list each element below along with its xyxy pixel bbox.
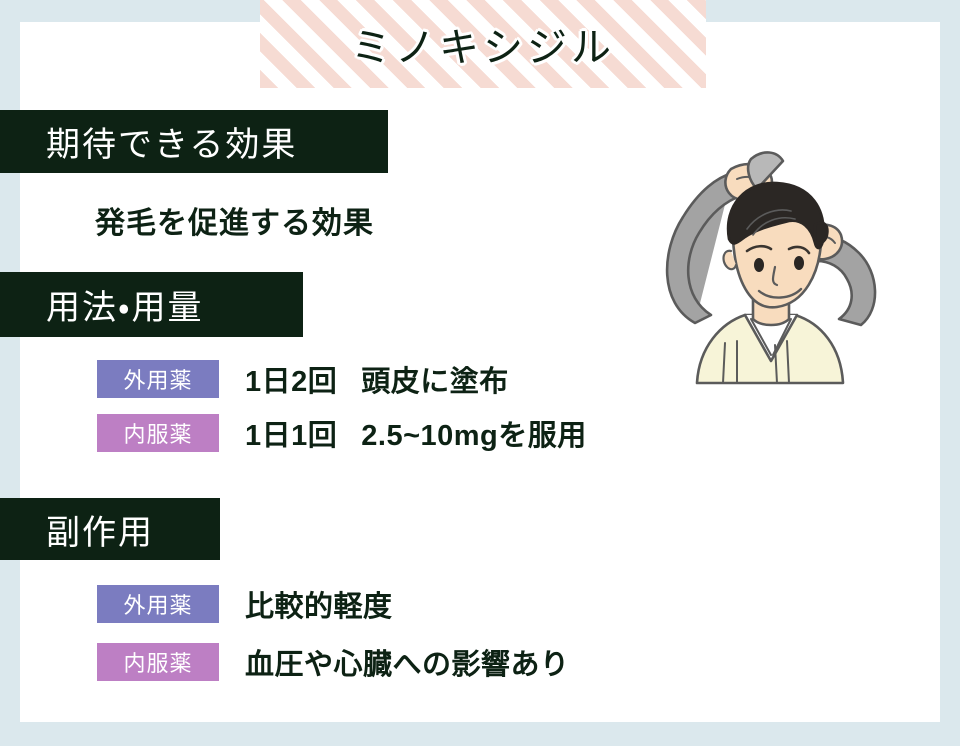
section-heading-dosage: 用法・用量 <box>0 272 303 337</box>
title-banner: ミノキシジル <box>260 0 706 88</box>
side-effect-topical-text: 比較的軽度 <box>245 583 393 625</box>
dosage-oral-text: 1日1回2.5~10mgを服用 <box>245 412 587 454</box>
dosage-row-topical: 外用薬 1日2回頭皮に塗布 <box>97 358 509 400</box>
badge-topical: 外用薬 <box>97 585 219 623</box>
badge-oral: 内服薬 <box>97 643 219 681</box>
section-heading-label: 用法・用量 <box>46 280 204 329</box>
illustration-man-applying-scalp-treatment <box>625 133 915 423</box>
section-heading-expected-effect: 期待できる効果 <box>0 110 388 173</box>
badge-oral: 内服薬 <box>97 414 219 452</box>
side-effect-row-oral: 内服薬 血圧や心臓への影響あり <box>97 641 570 683</box>
section-heading-label: 期待できる効果 <box>46 117 297 166</box>
side-effect-oral-text: 血圧や心臓への影響あり <box>245 641 570 683</box>
dosage-topical-method: 頭皮に塗布 <box>361 366 509 398</box>
expected-effect-text: 発毛を促進する効果 <box>95 198 374 242</box>
dosage-topical-text: 1日2回頭皮に塗布 <box>245 358 509 400</box>
section-heading-label: 副作用 <box>46 505 154 554</box>
section-heading-side-effects: 副作用 <box>0 498 220 560</box>
page-title: ミノキシジル <box>260 0 706 88</box>
dosage-oral-amount: 2.5~10mgを服用 <box>361 420 587 452</box>
dosage-oral-frequency: 1日1回 <box>245 420 337 452</box>
badge-topical: 外用薬 <box>97 360 219 398</box>
dosage-topical-frequency: 1日2回 <box>245 366 337 398</box>
dosage-row-oral: 内服薬 1日1回2.5~10mgを服用 <box>97 412 587 454</box>
side-effect-row-topical: 外用薬 比較的軽度 <box>97 583 393 625</box>
